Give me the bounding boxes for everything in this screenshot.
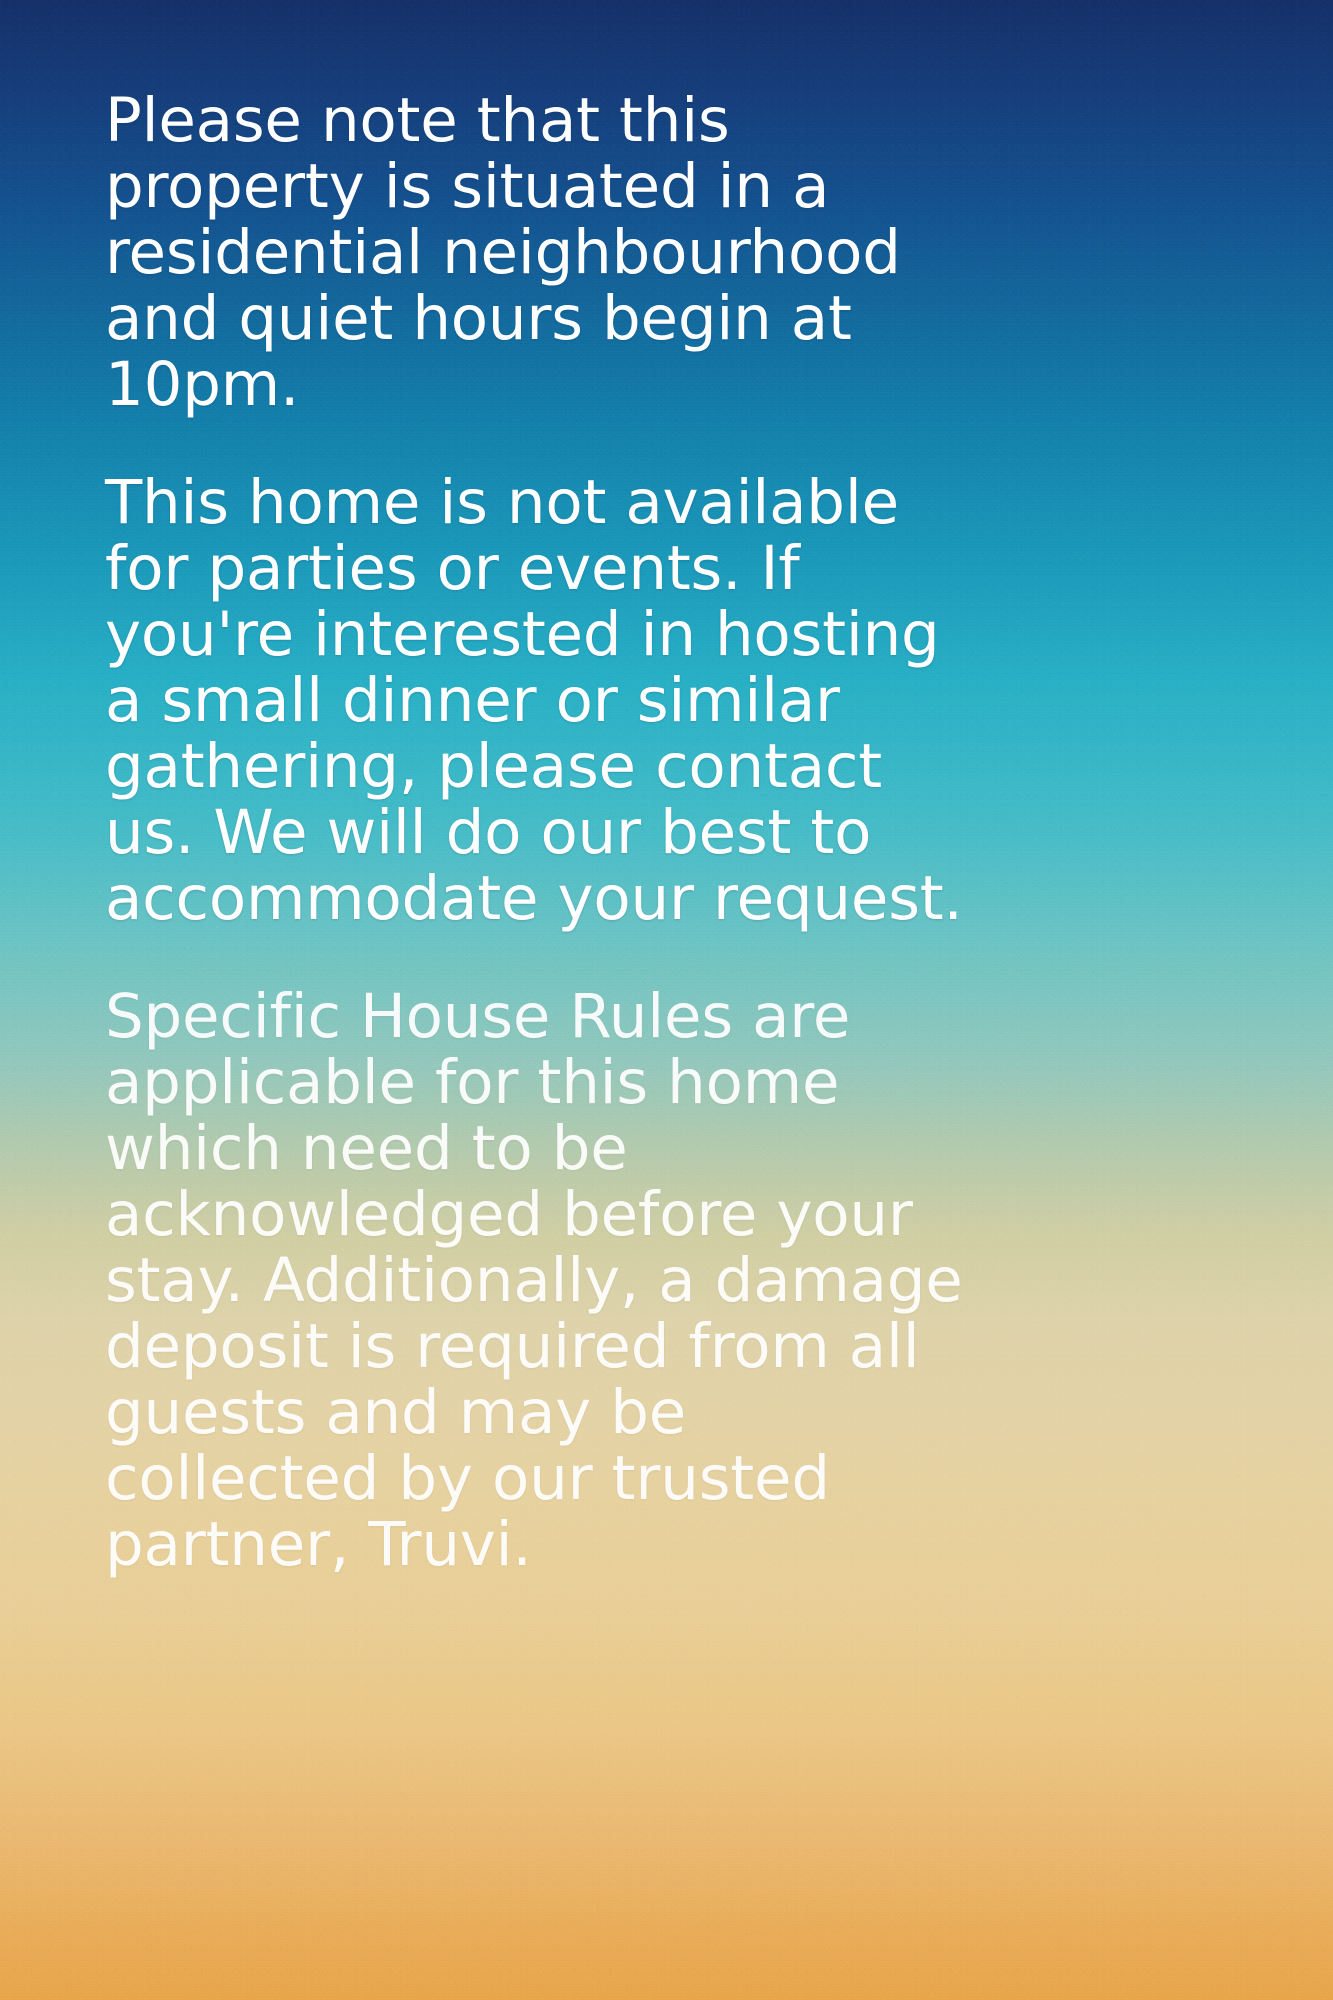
house-rules-poster: Please note that this property is situat… <box>0 0 1333 2000</box>
notice-text-block: Please note that this property is situat… <box>105 88 975 1578</box>
paragraph-house-rules-deposit-notice: Specific House Rules are applicable for … <box>105 984 975 1578</box>
paragraph-quiet-hours-notice: Please note that this property is situat… <box>105 88 975 418</box>
paragraph-no-parties-notice: This home is not available for parties o… <box>105 470 975 932</box>
